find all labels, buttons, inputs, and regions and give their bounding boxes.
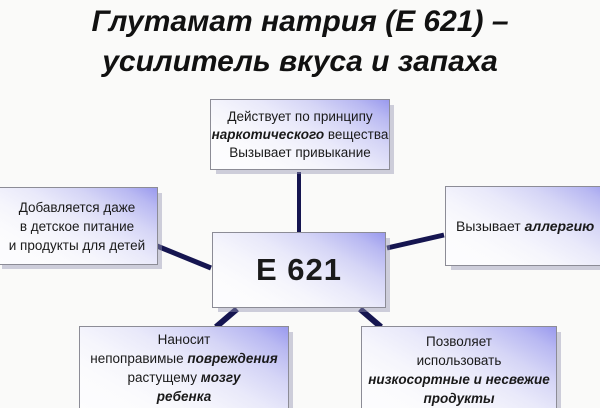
allergy-line-1-bold: аллергию (525, 218, 595, 234)
page-title: Глутамат натрия (E 621) – усилитель вкус… (0, 2, 600, 82)
connector-center-to-products (360, 309, 381, 327)
baby-food-line-3: и продукты для детей (0, 236, 155, 255)
narcotic-line-2: наркотического вещества (212, 126, 389, 144)
baby-food-text: Добавляется даже в детское питание и про… (0, 198, 157, 255)
baby-food-line-1: Добавляется даже (0, 198, 155, 217)
low-grade-products-box[interactable]: Позволяет использовать низкосортные и не… (361, 326, 557, 408)
connector-center-to-brain (216, 309, 237, 327)
narcotic-line-2-rest: вещества (324, 127, 388, 142)
products-line-4-bold: продукты (424, 391, 495, 406)
products-line-4: продукты (364, 389, 554, 408)
brain-line-2-rest: непоправимые (90, 351, 187, 366)
connector-center-to-allergy (387, 235, 444, 248)
center-node-label: E 621 (213, 253, 385, 287)
allergy-box[interactable]: Вызывает аллергию (445, 186, 600, 266)
baby-food-box[interactable]: Добавляется даже в детское питание и про… (0, 187, 158, 265)
brain-line-3-rest: растущему (127, 370, 200, 385)
brain-line-4-bold: ребенка (157, 389, 211, 404)
allergy-text: Вызывает аллергию (446, 218, 600, 235)
brain-line-3-bold: мозгу (201, 370, 241, 385)
products-line-1: Позволяет (364, 332, 554, 351)
brain-damage-text: Наносит непоправимые повреждения растуще… (80, 332, 288, 406)
allergy-line-1: Вызывает аллергию (456, 218, 600, 235)
narcotic-line-1: Действует по принципу (212, 108, 389, 126)
brain-line-2-bold: повреждения (187, 351, 277, 366)
low-grade-products-text: Позволяет использовать низкосортные и не… (362, 334, 556, 408)
products-line-3: низкосортные и несвежие (364, 370, 554, 389)
allergy-line-1-rest: Вызывает (456, 218, 525, 234)
slide-canvas: Глутамат натрия (E 621) – усилитель вкус… (0, 0, 600, 408)
center-node-e621[interactable]: E 621 (212, 232, 386, 308)
connector-center-to-baby-food (157, 246, 211, 268)
baby-food-line-2: в детское питание (0, 217, 155, 236)
products-line-2: использовать (364, 351, 554, 370)
brain-line-2: непоправимые повреждения (82, 349, 286, 368)
brain-damage-box[interactable]: Наносит непоправимые повреждения растуще… (79, 326, 289, 408)
narcotic-line-2-bold: наркотического (212, 127, 325, 142)
narcotic-effect-text: Действует по принципу наркотического вещ… (210, 108, 391, 162)
brain-line-1: Наносит (82, 330, 286, 349)
narcotic-line-3: Вызывает привыкание (212, 144, 389, 162)
products-line-3-bold: низкосортные и несвежие (368, 372, 550, 387)
brain-line-4: ребенка (82, 387, 286, 406)
brain-line-3: растущему мозгу (82, 368, 286, 387)
narcotic-effect-box[interactable]: Действует по принципу наркотического вещ… (210, 99, 390, 170)
